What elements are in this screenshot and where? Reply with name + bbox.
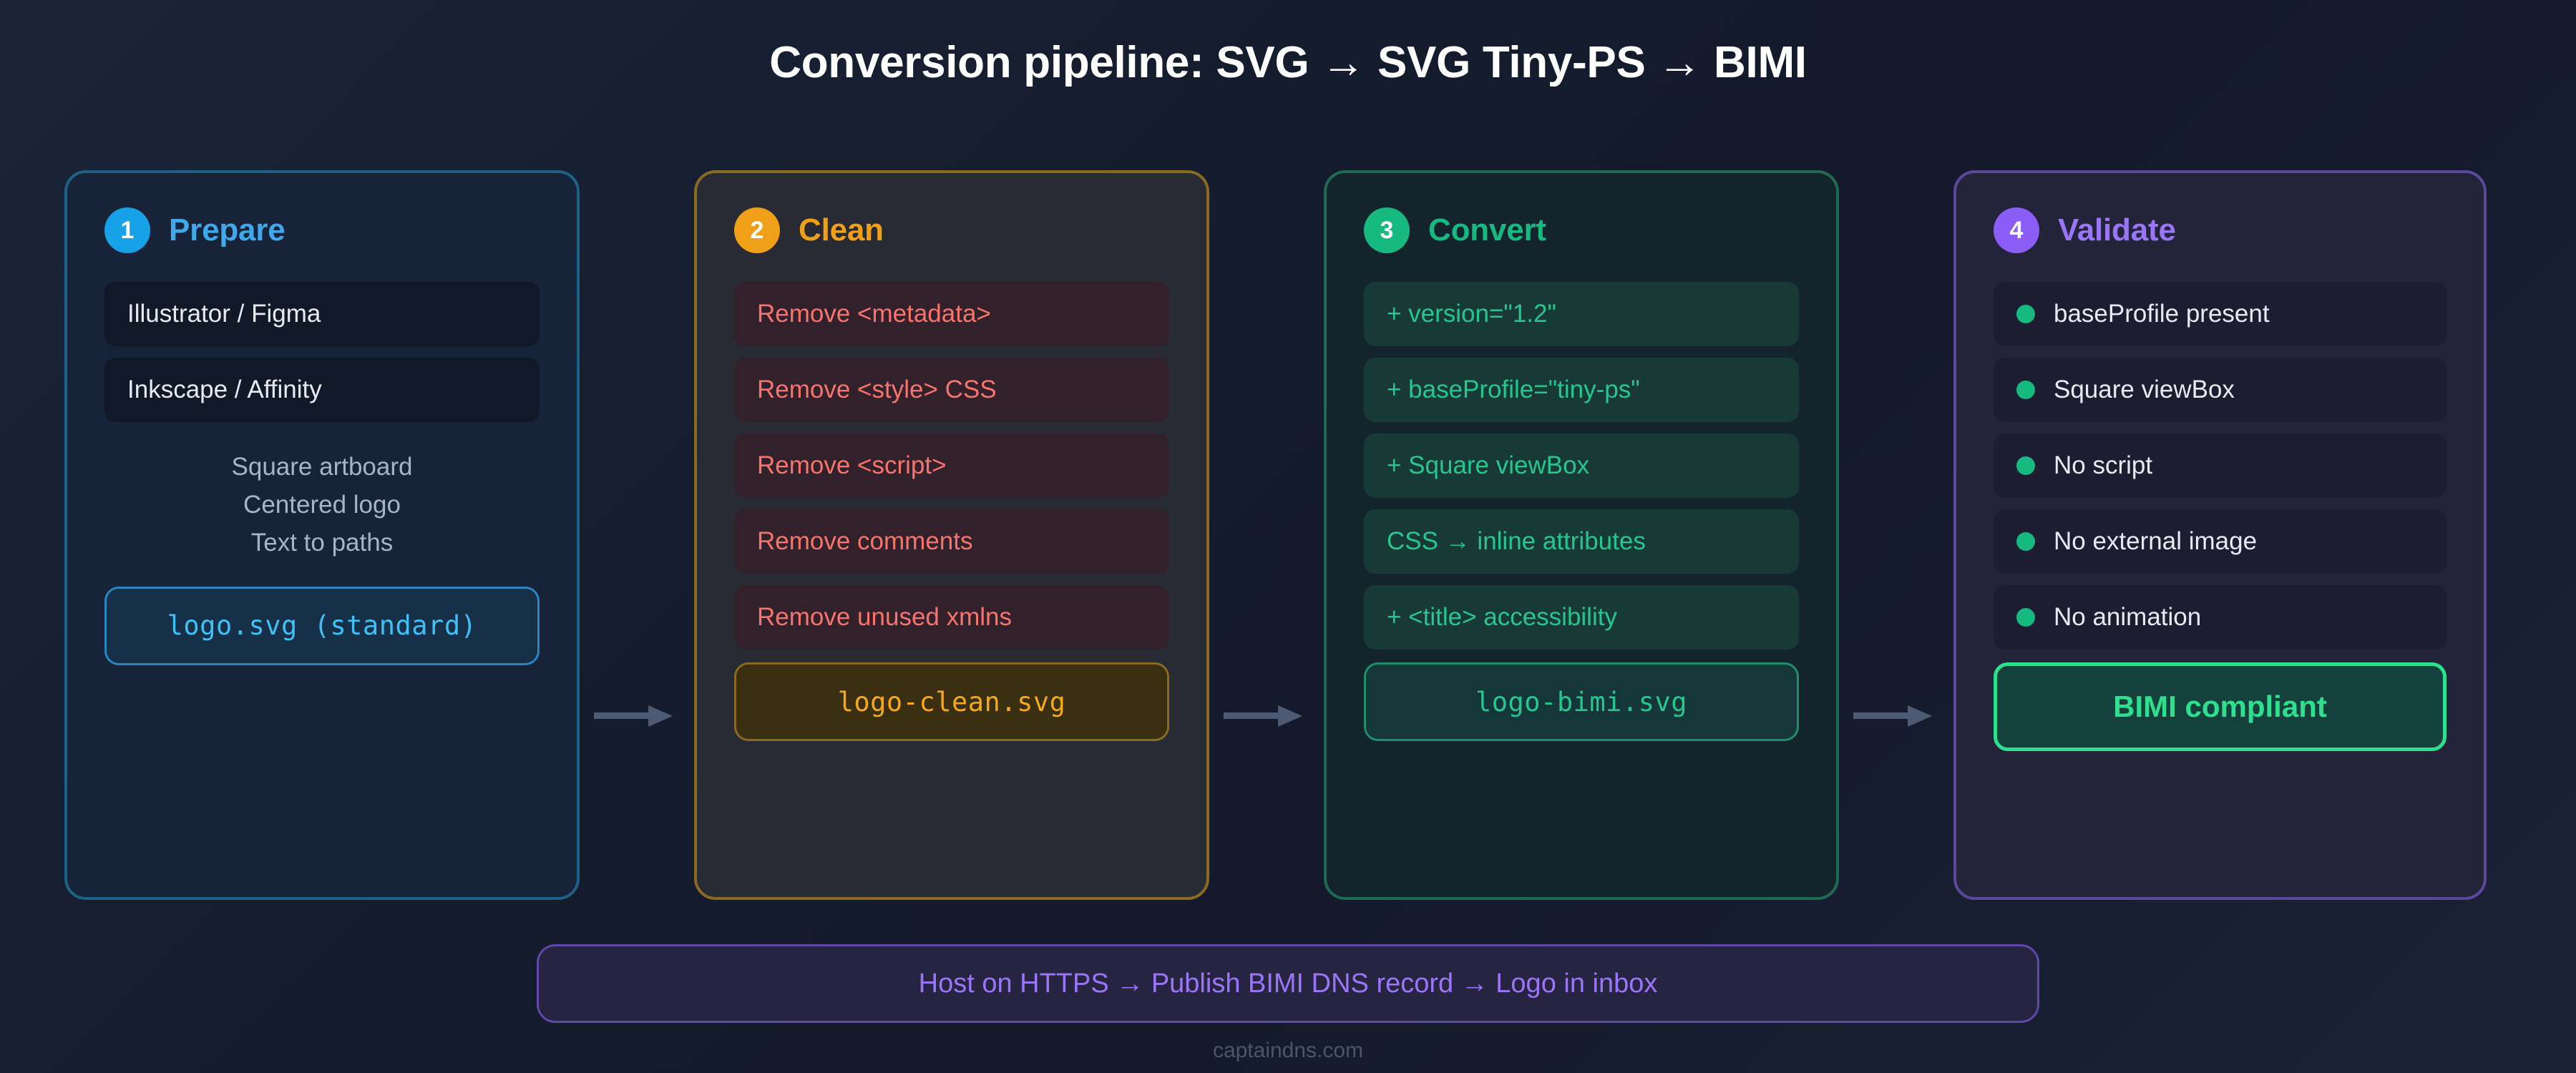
list-item-label: Illustrator / Figma xyxy=(127,300,321,328)
step-card-clean: 2 Clean Remove <metadata> Remove <style>… xyxy=(694,170,1209,900)
step-card-prepare: 1 Prepare Illustrator / Figma Inkscape /… xyxy=(64,170,580,900)
output-chip-prepare: logo.svg (standard) xyxy=(104,587,540,665)
status-dot-icon xyxy=(2016,381,2035,399)
list-item[interactable]: baseProfile present xyxy=(1994,282,2446,346)
list-item[interactable]: + Square viewBox xyxy=(1364,433,1799,498)
list-item[interactable]: Remove comments xyxy=(734,509,1169,574)
list-item-label: Remove <metadata> xyxy=(757,300,991,328)
list-item-label: No external image xyxy=(2054,527,2257,556)
list-item-label: Remove <style> CSS xyxy=(757,376,997,404)
list-item-label: + <title> accessibility xyxy=(1387,603,1617,632)
footer-text: Host on HTTPS → Publish BIMI DNS record … xyxy=(919,969,1658,999)
list-item[interactable]: No external image xyxy=(1994,509,2446,574)
output-chip-convert: logo-bimi.svg xyxy=(1364,662,1799,741)
list-item[interactable]: Square viewBox xyxy=(1994,358,2446,422)
status-dot-icon xyxy=(2016,532,2035,551)
list-item[interactable]: Remove <metadata> xyxy=(734,282,1169,346)
list-item-label: No script xyxy=(2054,451,2152,480)
pipeline-columns: 1 Prepare Illustrator / Figma Inkscape /… xyxy=(0,170,2576,901)
page-title: Conversion pipeline: SVG → SVG Tiny-PS →… xyxy=(0,37,2576,88)
watermark: captaindns.com xyxy=(0,1039,2576,1063)
note-line: Text to paths xyxy=(104,524,540,562)
step-title: Convert xyxy=(1428,212,1546,248)
step-card-validate: 4 Validate baseProfile present Square vi… xyxy=(1953,170,2487,900)
list-item[interactable]: No animation xyxy=(1994,585,2446,650)
arrow-right-icon xyxy=(1853,704,1932,728)
arrow-right-icon xyxy=(1224,704,1302,728)
prepare-notes: Square artboard Centered logo Text to pa… xyxy=(104,448,540,562)
list-item-label: Remove <script> xyxy=(757,451,947,480)
output-chip-clean: logo-clean.svg xyxy=(734,662,1169,741)
list-item[interactable]: Inkscape / Affinity xyxy=(104,358,540,422)
step-number-badge: 4 xyxy=(1994,207,2039,253)
step-title: Validate xyxy=(2058,212,2176,248)
step-header-validate: 4 Validate xyxy=(1994,203,2446,258)
list-item[interactable]: Remove <style> CSS xyxy=(734,358,1169,422)
list-item-label: Remove unused xmlns xyxy=(757,603,1012,632)
note-line: Centered logo xyxy=(104,486,540,524)
step-header-convert: 3 Convert xyxy=(1364,203,1799,258)
list-item[interactable]: + <title> accessibility xyxy=(1364,585,1799,650)
list-item-label: baseProfile present xyxy=(2054,300,2270,328)
status-dot-icon xyxy=(2016,456,2035,475)
list-item[interactable]: Remove unused xmlns xyxy=(734,585,1169,650)
step-header-clean: 2 Clean xyxy=(734,203,1169,258)
list-item[interactable]: CSS → inline attributes xyxy=(1364,509,1799,574)
list-item-label: + baseProfile="tiny-ps" xyxy=(1387,376,1640,404)
step-title: Clean xyxy=(799,212,884,248)
step-number-badge: 3 xyxy=(1364,207,1410,253)
status-dot-icon xyxy=(2016,608,2035,627)
list-item-label: + version="1.2" xyxy=(1387,300,1556,328)
list-item-label: Square viewBox xyxy=(2054,376,2235,404)
list-item[interactable]: Remove <script> xyxy=(734,433,1169,498)
step-header-prepare: 1 Prepare xyxy=(104,203,540,258)
list-item[interactable]: + version="1.2" xyxy=(1364,282,1799,346)
arrow-right-icon xyxy=(594,704,673,728)
status-badge-bimi-compliant: BIMI compliant xyxy=(1994,662,2446,751)
step-number-badge: 2 xyxy=(734,207,780,253)
list-item-label: + Square viewBox xyxy=(1387,451,1589,480)
list-item-label: Inkscape / Affinity xyxy=(127,376,322,404)
step-title: Prepare xyxy=(169,212,285,248)
list-item-label: No animation xyxy=(2054,603,2201,632)
list-item-label: CSS → inline attributes xyxy=(1387,527,1646,556)
footer-banner: Host on HTTPS → Publish BIMI DNS record … xyxy=(537,944,2039,1023)
note-line: Square artboard xyxy=(104,448,540,486)
list-item-label: Remove comments xyxy=(757,527,972,556)
list-item[interactable]: No script xyxy=(1994,433,2446,498)
status-dot-icon xyxy=(2016,305,2035,323)
list-item[interactable]: + baseProfile="tiny-ps" xyxy=(1364,358,1799,422)
list-item[interactable]: Illustrator / Figma xyxy=(104,282,540,346)
step-card-convert: 3 Convert + version="1.2" + baseProfile=… xyxy=(1324,170,1839,900)
step-number-badge: 1 xyxy=(104,207,150,253)
